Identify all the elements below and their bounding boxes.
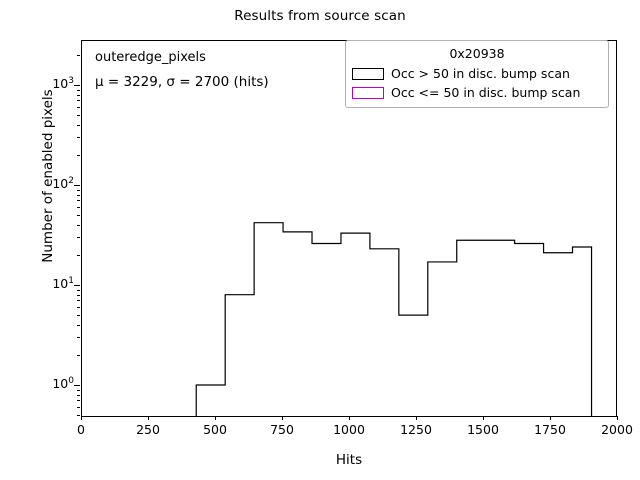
y-minor-tick	[77, 95, 80, 96]
y-minor-tick	[77, 137, 80, 138]
y-tick-label-1e3: 103	[26, 76, 74, 91]
y-minor-tick	[77, 337, 80, 338]
y-minor-tick	[77, 190, 80, 191]
x-tick-label-750: 750	[252, 422, 312, 437]
legend-label-occ-gt-50: Occ > 50 in disc. bump scan	[391, 66, 570, 81]
annotation-stats: μ = 3229, σ = 2700 (hits)	[95, 74, 269, 90]
x-tick-750	[282, 416, 283, 420]
y-minor-tick	[77, 415, 80, 416]
y-minor-tick	[77, 355, 80, 356]
y-minor-tick	[77, 207, 80, 208]
legend-entry-occ-gt-50: Occ > 50 in disc. bump scan	[352, 64, 602, 83]
y-tick-1e2	[74, 185, 80, 186]
legend-label-occ-le-50: Occ <= 50 in disc. bump scan	[391, 85, 580, 100]
histogram-step-line	[196, 223, 591, 417]
x-tick-1000	[349, 416, 350, 420]
y-minor-tick	[77, 100, 80, 101]
y-minor-tick	[77, 155, 80, 156]
y-minor-tick	[77, 315, 80, 316]
y-minor-tick	[77, 395, 80, 396]
y-minor-tick	[77, 215, 80, 216]
y-tick-label-1e2: 102	[26, 176, 74, 191]
x-tick-label-1750: 1750	[520, 422, 580, 437]
x-tick-1500	[483, 416, 484, 420]
y-minor-tick	[77, 115, 80, 116]
histogram-series-occ-gt-50	[196, 223, 591, 417]
y-minor-tick	[77, 195, 80, 196]
y-minor-tick	[77, 295, 80, 296]
x-tick-1250	[416, 416, 417, 420]
legend-entry-occ-le-50: Occ <= 50 in disc. bump scan	[352, 83, 602, 102]
x-tick-250	[148, 416, 149, 420]
y-tick-1e1	[74, 285, 80, 286]
x-axis-label: Hits	[81, 452, 617, 468]
legend-box: 0x20938 Occ > 50 in disc. bump scan Occ …	[345, 40, 609, 108]
x-tick-label-1250: 1250	[386, 422, 446, 437]
y-minor-tick	[77, 237, 80, 238]
y-tick-label-1e1: 101	[26, 276, 74, 291]
x-tick-label-2000: 2000	[587, 422, 640, 437]
y-minor-tick	[77, 255, 80, 256]
x-tick-label-500: 500	[185, 422, 245, 437]
y-minor-tick	[77, 90, 80, 91]
y-minor-tick	[77, 125, 80, 126]
x-tick-label-250: 250	[118, 422, 178, 437]
y-minor-tick	[77, 107, 80, 108]
x-tick-2000	[617, 416, 618, 420]
x-tick-500	[215, 416, 216, 420]
legend-title: 0x20938	[352, 44, 602, 64]
x-tick-1750	[550, 416, 551, 420]
y-tick-label-1e0: 100	[26, 376, 74, 391]
annotation-group-name: outeredge_pixels	[95, 50, 206, 65]
legend-swatch-black	[352, 68, 384, 80]
y-minor-tick	[77, 307, 80, 308]
y-minor-tick	[77, 225, 80, 226]
x-tick-label-0: 0	[51, 422, 111, 437]
y-minor-tick	[77, 55, 80, 56]
y-minor-tick	[77, 300, 80, 301]
x-tick-label-1500: 1500	[453, 422, 513, 437]
y-minor-tick	[77, 290, 80, 291]
y-minor-tick	[77, 400, 80, 401]
figure-canvas: Results from source scan Number of enabl…	[0, 0, 640, 480]
y-tick-1e0	[74, 385, 80, 386]
y-minor-tick	[77, 200, 80, 201]
y-tick-1e3	[74, 85, 80, 86]
x-tick-label-1000: 1000	[319, 422, 379, 437]
y-minor-tick	[77, 407, 80, 408]
legend-swatch-magenta	[352, 87, 384, 99]
y-minor-tick	[77, 325, 80, 326]
x-tick-0	[81, 416, 82, 420]
y-minor-tick	[77, 390, 80, 391]
